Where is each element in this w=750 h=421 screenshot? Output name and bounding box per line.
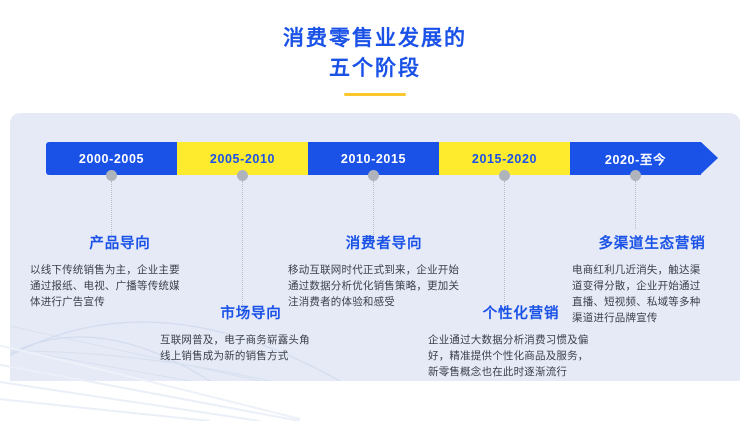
connector-stage-3 <box>368 170 379 239</box>
stage-block-5: 多渠道生态营销 电商红利几近消失，触达渠 道变得分散，企业开始通过 直播、短视频… <box>572 232 732 326</box>
stage-body-line: 渠道进行品牌宣传 <box>572 310 732 326</box>
stage-body-line: 通过数据分析优化销售策略，更加关 <box>288 278 480 294</box>
stage-body-line: 直播、短视频、私域等多种 <box>572 294 732 310</box>
stage-body: 企业通过大数据分析消费习惯及偏 好，精准提供个性化商品及服务， 新零售概念也在此… <box>428 332 614 380</box>
timeline-segment-label: 2020-至今 <box>605 149 666 168</box>
connector-stem <box>373 181 375 239</box>
stage-block-3: 消费者导向 移动互联网时代正式到来，企业开始 通过数据分析优化销售策略，更加关 … <box>288 232 480 310</box>
stage-body-line: 企业通过大数据分析消费习惯及偏 <box>428 332 614 348</box>
stage-body-line: 道变得分散，企业开始通过 <box>572 278 732 294</box>
stage-body: 电商红利几近消失，触达渠 道变得分散，企业开始通过 直播、短视频、私域等多种 渠… <box>572 262 732 326</box>
stage-body: 互联网普及，电子商务崭露头角 线上销售成为新的销售方式 <box>160 332 342 364</box>
timeline-bar: 2000-2005 2005-2010 2010-2015 2015-2020 … <box>46 142 715 175</box>
title-underline <box>344 93 406 96</box>
connector-stage-4 <box>499 170 510 309</box>
stage-block-1: 产品导向 以线下传统销售为主，企业主要 通过报纸、电视、广播等传统媒 体进行广告… <box>30 232 210 310</box>
stage-body-line: 新零售概念也在此时逐渐流行 <box>428 364 614 380</box>
connector-dot-icon <box>237 170 248 181</box>
connector-stem <box>242 181 244 309</box>
page-title: 消费零售业发展的 五个阶段 <box>0 24 750 96</box>
connector-stem <box>635 181 637 229</box>
stage-body-line: 通过报纸、电视、广播等传统媒 <box>30 278 210 294</box>
connector-dot-icon <box>368 170 379 181</box>
stage-body-line: 电商红利几近消失，触达渠 <box>572 262 732 278</box>
connector-stage-5 <box>630 170 641 229</box>
stage-body-line: 以线下传统销售为主，企业主要 <box>30 262 210 278</box>
stage-body-line: 线上销售成为新的销售方式 <box>160 348 342 364</box>
connector-dot-icon <box>499 170 510 181</box>
title-line-2: 五个阶段 <box>0 54 750 84</box>
title-line-1: 消费零售业发展的 <box>0 24 750 54</box>
connector-stem <box>111 181 113 239</box>
stage-heading: 产品导向 <box>30 232 210 253</box>
connector-dot-icon <box>106 170 117 181</box>
timeline-segment-label: 2005-2010 <box>210 152 275 166</box>
connector-dot-icon <box>630 170 641 181</box>
arrow-tip-icon <box>701 142 718 174</box>
timeline-segment-label: 2010-2015 <box>341 152 406 166</box>
stage-heading: 消费者导向 <box>288 232 480 253</box>
connector-stem <box>504 181 506 309</box>
timeline-segment-label: 2015-2020 <box>472 152 537 166</box>
stage-heading: 多渠道生态营销 <box>572 232 732 253</box>
stage-body-line: 好，精准提供个性化商品及服务， <box>428 348 614 364</box>
stage-block-2: 市场导向 互联网普及，电子商务崭露头角 线上销售成为新的销售方式 <box>160 302 342 364</box>
connector-stage-2 <box>237 170 248 309</box>
stage-body-line: 互联网普及，电子商务崭露头角 <box>160 332 342 348</box>
stage-body-line: 移动互联网时代正式到来，企业开始 <box>288 262 480 278</box>
connector-stage-1 <box>106 170 117 239</box>
timeline-segment-label: 2000-2005 <box>79 152 144 166</box>
